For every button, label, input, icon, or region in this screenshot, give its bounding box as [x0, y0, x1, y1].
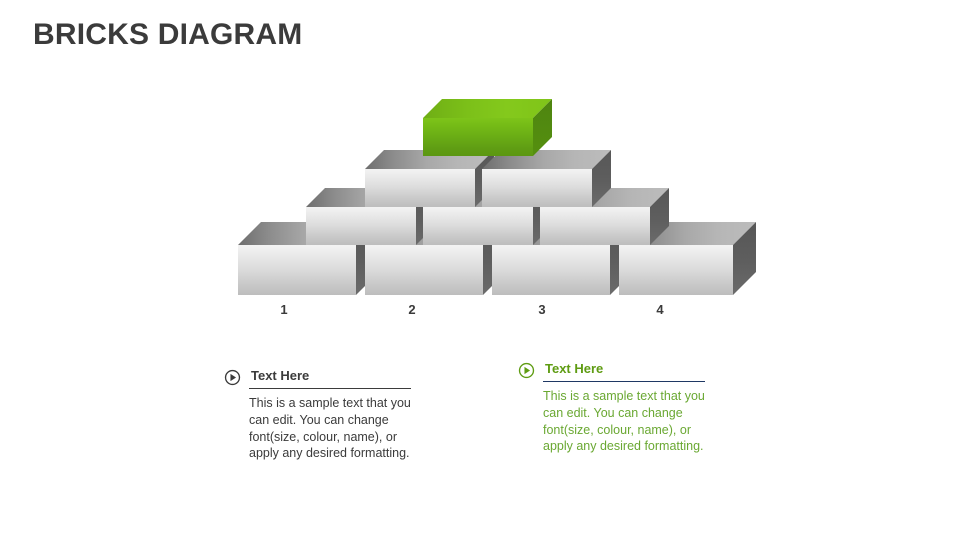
brick-label-2: 2 [392, 302, 432, 317]
brick-label-4: 4 [640, 302, 680, 317]
brick-r1-c3-front [492, 245, 610, 295]
brick-r1-c4[interactable] [619, 245, 733, 295]
brick-r4-c1-top [423, 99, 552, 118]
brick-r4-c1-highlight[interactable] [423, 118, 533, 156]
text-block-right-rule [543, 381, 705, 382]
brick-pyramid-diagram: 1 2 3 4 [0, 0, 960, 330]
brick-r3-c2[interactable] [482, 169, 592, 207]
brick-r1-c4-front [619, 245, 733, 295]
brick-r1-c2[interactable] [365, 245, 483, 295]
brick-r2-c1-front [306, 207, 416, 245]
play-circle-icon[interactable] [518, 362, 535, 379]
text-block-right: Text Here This is a sample text that you… [518, 362, 718, 382]
brick-r3-c2-front [482, 169, 592, 207]
brick-r1-c3[interactable] [492, 245, 610, 295]
text-block-left-body: This is a sample text that you can edit.… [249, 395, 425, 462]
brick-r2-c1[interactable] [306, 207, 416, 245]
text-block-left: Text Here This is a sample text that you… [224, 369, 424, 389]
brick-label-1: 1 [264, 302, 304, 317]
brick-r2-c3[interactable] [540, 207, 650, 245]
text-block-left-rule [249, 388, 411, 389]
brick-r3-c1-front [365, 169, 475, 207]
text-block-right-body: This is a sample text that you can edit.… [543, 388, 719, 455]
text-block-left-header: Text Here [224, 369, 424, 389]
brick-r3-c1[interactable] [365, 169, 475, 207]
brick-r2-c2-front [423, 207, 533, 245]
brick-r1-c2-front [365, 245, 483, 295]
brick-r1-c1[interactable] [238, 245, 356, 295]
play-circle-icon[interactable] [224, 369, 241, 386]
brick-r4-c1-front [423, 118, 533, 156]
brick-r1-c1-front [238, 245, 356, 295]
text-block-right-heading: Text Here [545, 361, 603, 376]
brick-label-3: 3 [522, 302, 562, 317]
text-block-right-header: Text Here [518, 362, 718, 382]
text-block-left-heading: Text Here [251, 368, 309, 383]
brick-r2-c3-front [540, 207, 650, 245]
brick-r2-c2[interactable] [423, 207, 533, 245]
